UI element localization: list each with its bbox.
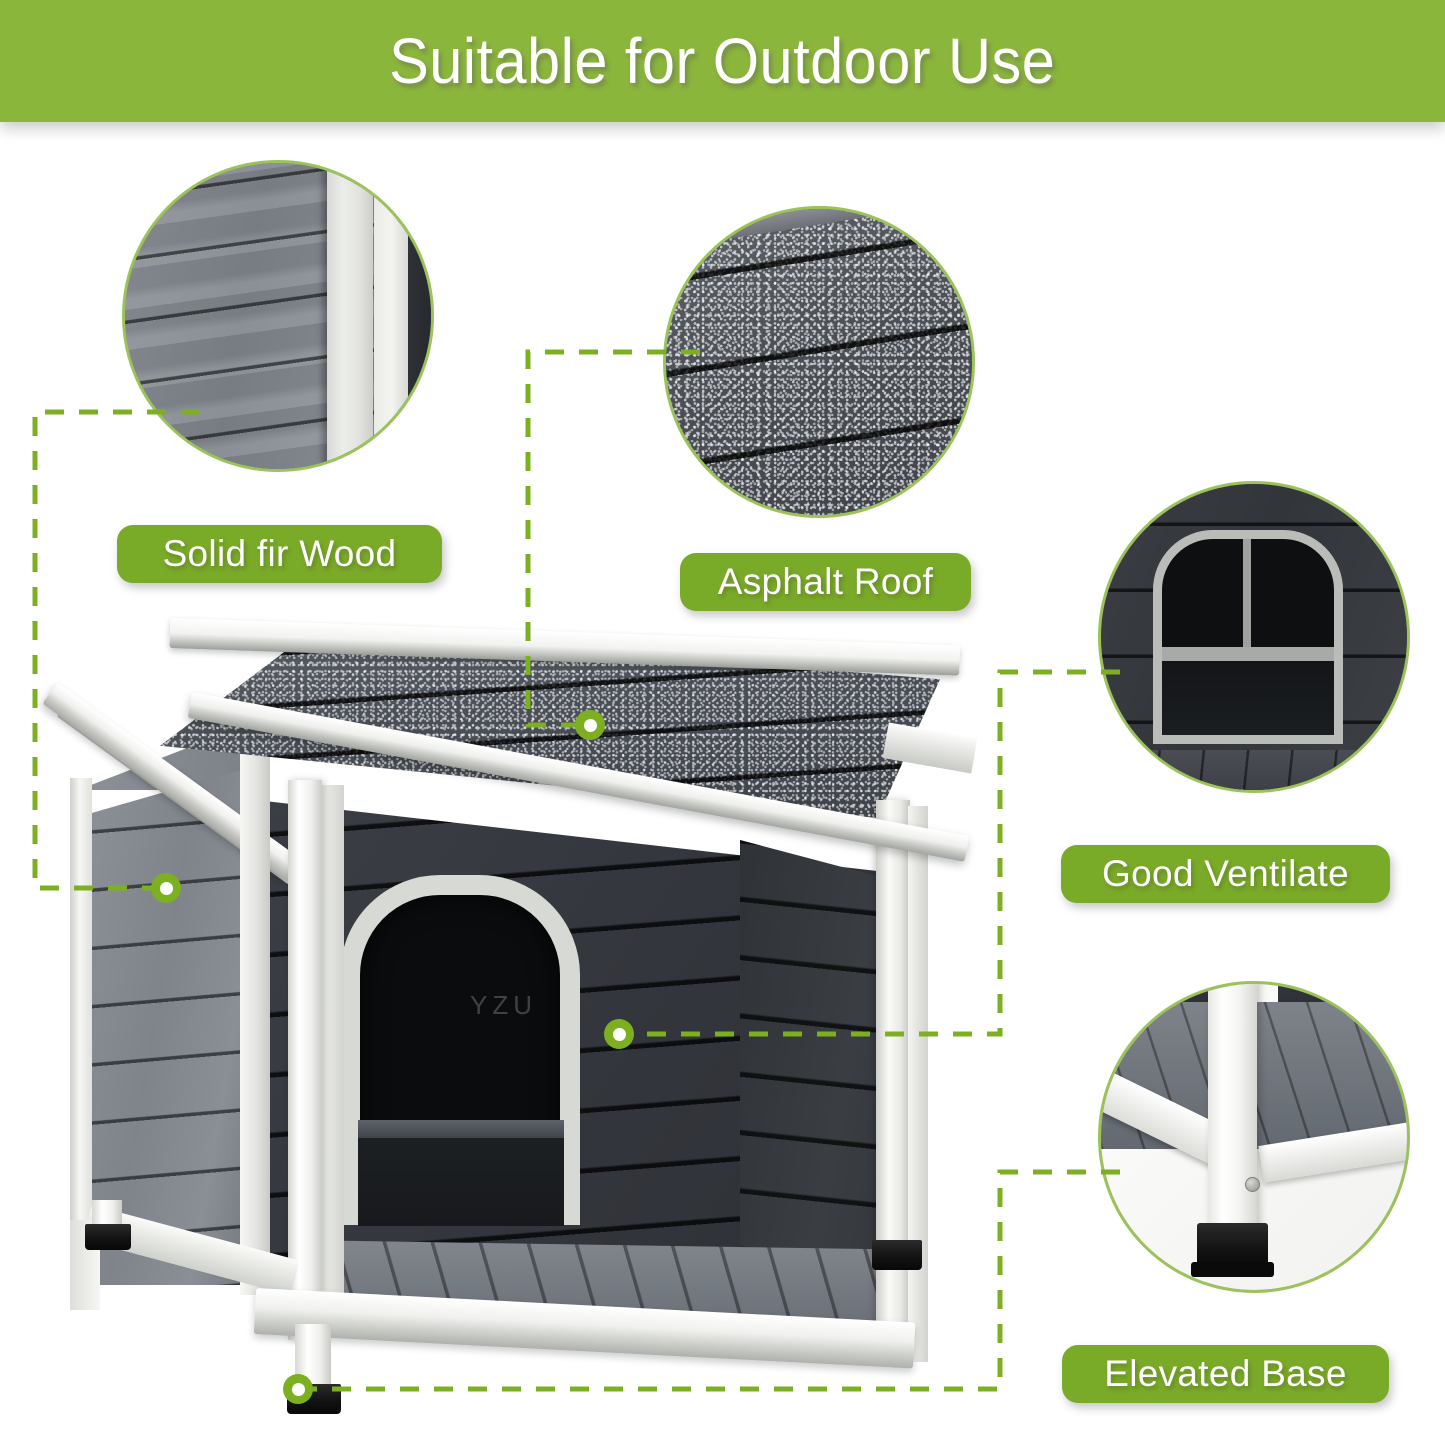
vent-mullion bbox=[1243, 539, 1252, 651]
page-title: Suitable for Outdoor Use bbox=[389, 24, 1055, 98]
asphalt-shingle-texture bbox=[666, 209, 972, 515]
wood-plank-texture bbox=[125, 163, 431, 469]
dark-wall-edge bbox=[408, 160, 434, 472]
product-photo-dog-house: YZU bbox=[40, 600, 1000, 1420]
arched-vent-frame bbox=[1153, 530, 1343, 744]
connector-dot-asphalt-roof bbox=[575, 710, 605, 740]
connector-dot-good-ventilate bbox=[604, 1019, 634, 1049]
door-interior-floor bbox=[358, 1138, 564, 1226]
header-banner: Suitable for Outdoor Use bbox=[0, 0, 1445, 122]
gable-trim-right bbox=[240, 750, 270, 1295]
elevated-base-scene bbox=[1101, 984, 1407, 1290]
feature-label-asphalt-roof: Asphalt Roof bbox=[680, 553, 971, 611]
white-support-leg bbox=[1208, 981, 1257, 1250]
inset-image-asphalt-roof bbox=[663, 206, 975, 518]
dark-plank-wall-texture bbox=[1101, 484, 1407, 790]
porch-post-left-inner bbox=[322, 785, 344, 1337]
feature-label-good-ventilate: Good Ventilate bbox=[1061, 845, 1390, 903]
vent-interior-shadow bbox=[1162, 661, 1334, 736]
black-foot-cap bbox=[1197, 1223, 1267, 1269]
connector-dot-elevated-base bbox=[283, 1374, 313, 1404]
porch-post-right-inner bbox=[908, 806, 928, 1362]
connector-dot-solid-fir-wood bbox=[151, 873, 181, 903]
infographic-canvas: Suitable for Outdoor Use bbox=[0, 0, 1445, 1445]
foot-cap-back-left bbox=[85, 1224, 131, 1250]
white-trim-post-secondary bbox=[374, 160, 408, 472]
feature-label-solid-fir-wood: Solid fir Wood bbox=[117, 525, 442, 583]
inset-image-solid-fir-wood bbox=[122, 160, 434, 472]
porch-post-left bbox=[288, 780, 322, 1340]
inset-image-good-ventilate bbox=[1098, 481, 1410, 793]
door-interior-ledge bbox=[358, 1120, 564, 1140]
deck-boards bbox=[1098, 750, 1410, 793]
feature-label-elevated-base: Elevated Base bbox=[1062, 1345, 1389, 1403]
foot-cap-right bbox=[872, 1240, 922, 1270]
inset-image-elevated-base bbox=[1098, 981, 1410, 1293]
white-ridge-trim bbox=[663, 206, 975, 258]
porch-post-right bbox=[876, 800, 910, 1360]
vent-cross-rail bbox=[1162, 647, 1334, 661]
white-trim-post bbox=[327, 160, 373, 472]
screw-icon bbox=[1245, 1177, 1260, 1192]
